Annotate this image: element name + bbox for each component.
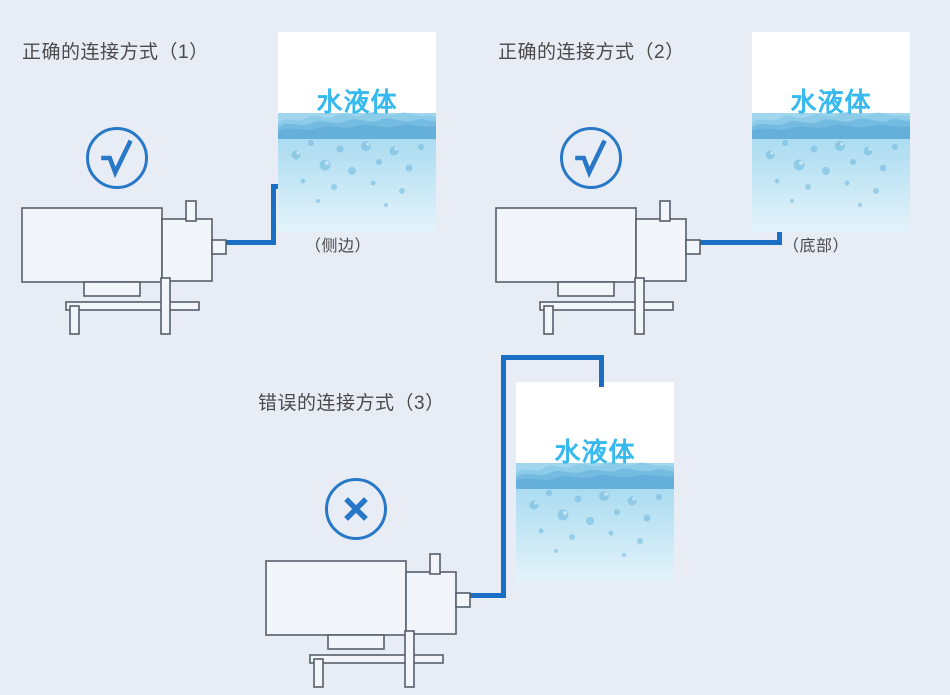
- water-body-2: [752, 113, 910, 232]
- pipe-tank-inlet-2: [777, 230, 782, 245]
- pipe-vertical-1: [271, 184, 276, 245]
- pump-assembly-1: [18, 192, 228, 327]
- water-tank-3: 水液体: [516, 382, 674, 582]
- panel-2-caption: （底部）: [783, 232, 849, 256]
- tank-label-2: 水液体: [752, 82, 910, 119]
- water-tank-2: 水液体: [752, 32, 910, 232]
- water-body-1: [278, 113, 436, 232]
- tank-label-3: 水液体: [516, 432, 674, 469]
- cross-circle-icon: [325, 478, 387, 540]
- panel-1-title: 正确的连接方式（1）: [22, 37, 209, 64]
- tank-label-1: 水液体: [278, 82, 436, 119]
- water-body-3: [516, 463, 674, 582]
- diagram-canvas: 正确的连接方式（1） 水液体: [0, 0, 950, 695]
- pump-assembly-2: [492, 192, 702, 327]
- pipe-riser-3: [501, 355, 506, 598]
- pipe-overhead-3: [501, 355, 604, 360]
- panel-3-title: 错误的连接方式（3）: [258, 388, 445, 415]
- water-tank-1: 水液体: [278, 32, 436, 232]
- check-circle-icon: [86, 127, 148, 189]
- pipe-tank-inlet-3: [599, 355, 604, 387]
- pipe-horizontal-2: [692, 240, 782, 245]
- pump-assembly-3: [262, 545, 472, 680]
- panel-1-caption: （侧边）: [305, 232, 371, 256]
- check-circle-icon: [560, 127, 622, 189]
- panel-2-title: 正确的连接方式（2）: [498, 37, 685, 64]
